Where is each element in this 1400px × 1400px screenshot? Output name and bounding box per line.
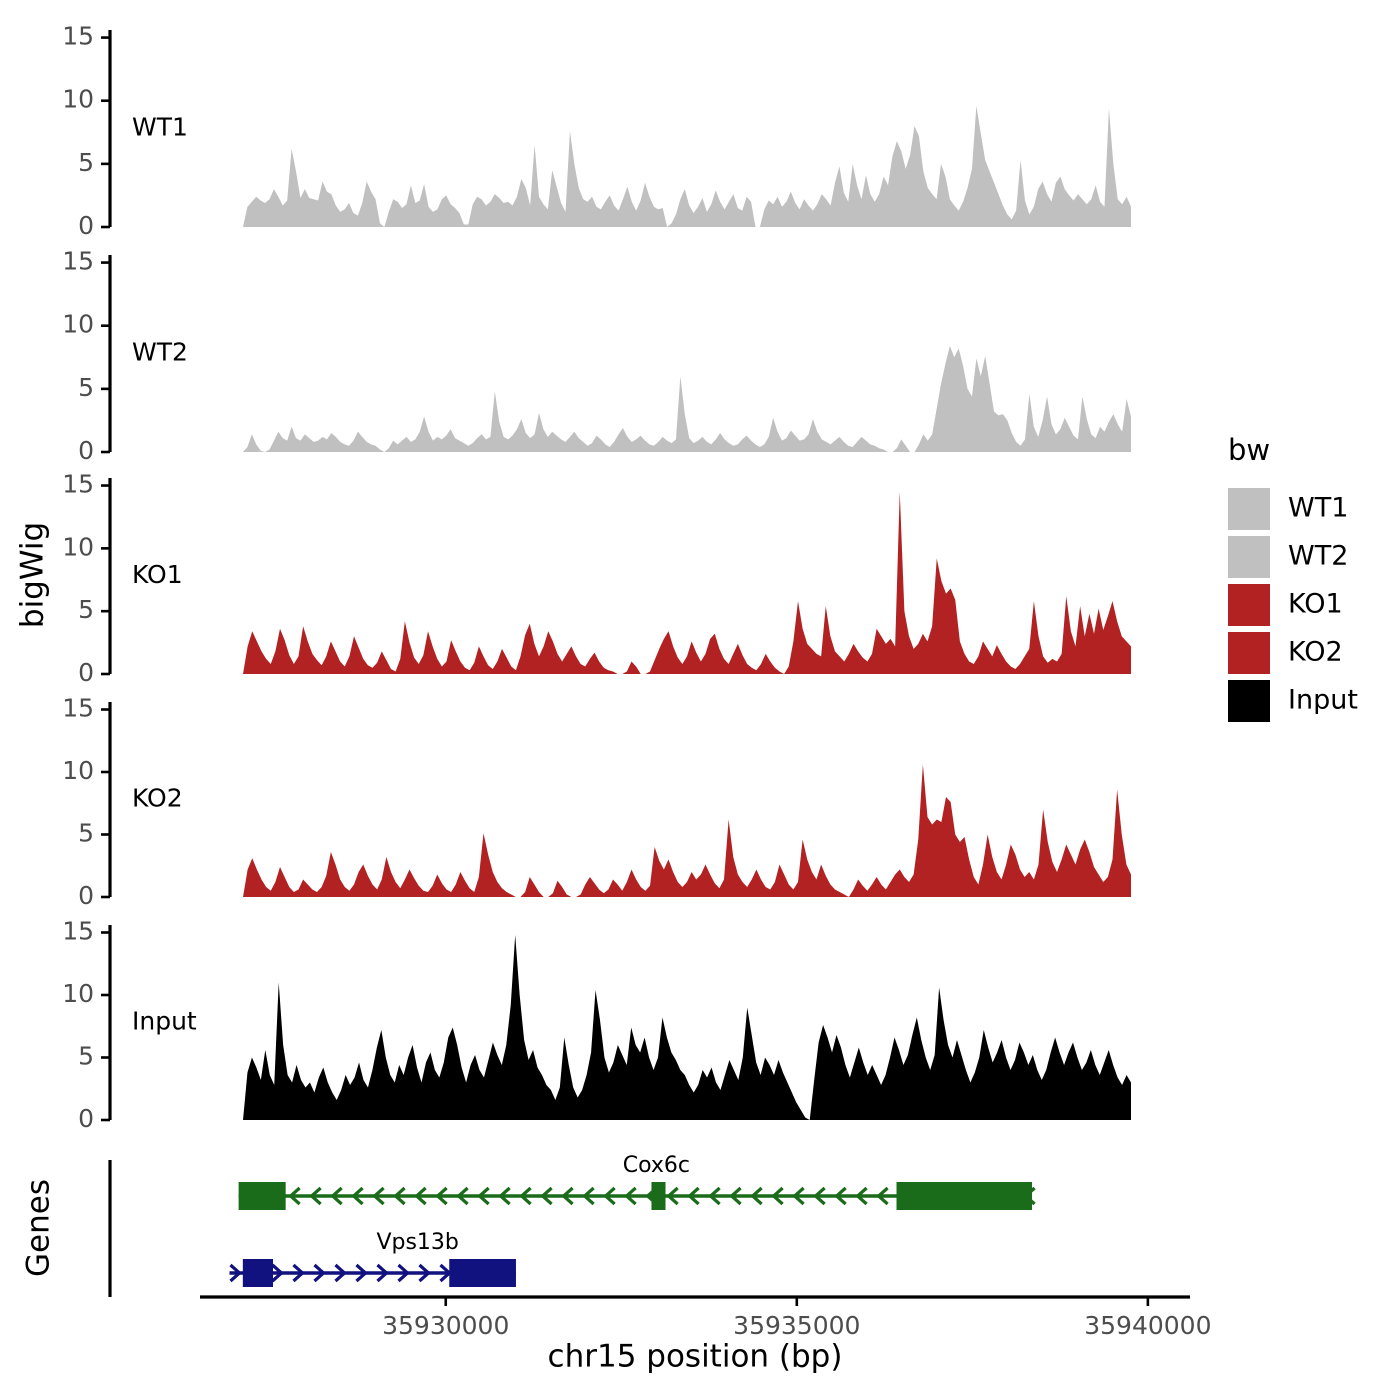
legend-swatch-wt1[interactable] (1228, 488, 1270, 530)
gene-exon-cox6c-2 (651, 1182, 665, 1210)
gene-label-vps13b: Vps13b (376, 1230, 458, 1255)
track-label-wt1: WT1 (132, 113, 188, 142)
y-tick-label-ko2-5: 5 (78, 819, 94, 848)
gene-exon-cox6c-1 (239, 1182, 286, 1210)
x-tick-label-35930000: 35930000 (382, 1311, 509, 1340)
legend-label-input: Input (1288, 685, 1358, 716)
legend-swatch-wt2[interactable] (1228, 536, 1270, 578)
x-tick-label-35940000: 35940000 (1084, 1311, 1211, 1340)
y-tick-label-input-15: 15 (62, 917, 94, 946)
y-tick-label-ko1-15: 15 (62, 470, 94, 499)
y-tick-label-wt1-0: 0 (78, 211, 94, 240)
y-tick-label-wt1-5: 5 (78, 148, 94, 177)
legend-title: bw (1228, 433, 1270, 467)
gene-exon-cox6c-3 (897, 1182, 1033, 1210)
track-label-ko1: KO1 (132, 560, 183, 589)
coverage-area-wt2 (243, 346, 1131, 452)
y-tick-label-ko2-0: 0 (78, 881, 94, 910)
track-label-wt2: WT2 (132, 338, 188, 367)
y-tick-label-ko1-5: 5 (78, 595, 94, 624)
y-tick-label-ko1-0: 0 (78, 658, 94, 687)
coverage-area-wt1 (243, 106, 1131, 227)
genome-browser-figure: 051015WT1051015WT2051015KO1051015KO20510… (0, 0, 1400, 1400)
legend-swatch-ko1[interactable] (1228, 584, 1270, 626)
y-axis-title: bigWig (15, 522, 51, 628)
track-label-ko2: KO2 (132, 784, 183, 813)
legend-label-ko1: KO1 (1288, 589, 1343, 620)
y-tick-label-wt2-10: 10 (62, 310, 94, 339)
genes-axis-title: Genes (21, 1179, 57, 1277)
legend-label-wt1: WT1 (1288, 493, 1348, 524)
legend-label-ko2: KO2 (1288, 637, 1343, 668)
track-label-input: Input (132, 1007, 197, 1036)
gene-exon-vps13b-1 (243, 1259, 273, 1287)
y-tick-label-wt2-5: 5 (78, 373, 94, 402)
legend-label-wt2: WT2 (1288, 541, 1348, 572)
gene-exon-vps13b-2 (449, 1259, 516, 1287)
legend-swatch-input[interactable] (1228, 680, 1270, 722)
coverage-area-ko2 (243, 765, 1131, 898)
y-tick-label-wt2-0: 0 (78, 436, 94, 465)
y-tick-label-ko2-15: 15 (62, 694, 94, 723)
y-tick-label-wt1-10: 10 (62, 85, 94, 114)
y-tick-label-input-0: 0 (78, 1104, 94, 1133)
y-tick-label-wt2-15: 15 (62, 247, 94, 276)
y-tick-label-input-10: 10 (62, 979, 94, 1008)
coverage-area-input (243, 935, 1131, 1120)
y-tick-label-wt1-15: 15 (62, 22, 94, 51)
y-tick-label-input-5: 5 (78, 1042, 94, 1071)
gene-label-cox6c: Cox6c (623, 1153, 690, 1178)
legend-swatch-ko2[interactable] (1228, 632, 1270, 674)
x-tick-label-35935000: 35935000 (733, 1311, 860, 1340)
y-tick-label-ko1-10: 10 (62, 532, 94, 561)
coverage-area-ko1 (243, 492, 1131, 674)
x-axis-title: chr15 position (bp) (548, 1339, 843, 1375)
y-tick-label-ko2-10: 10 (62, 756, 94, 785)
